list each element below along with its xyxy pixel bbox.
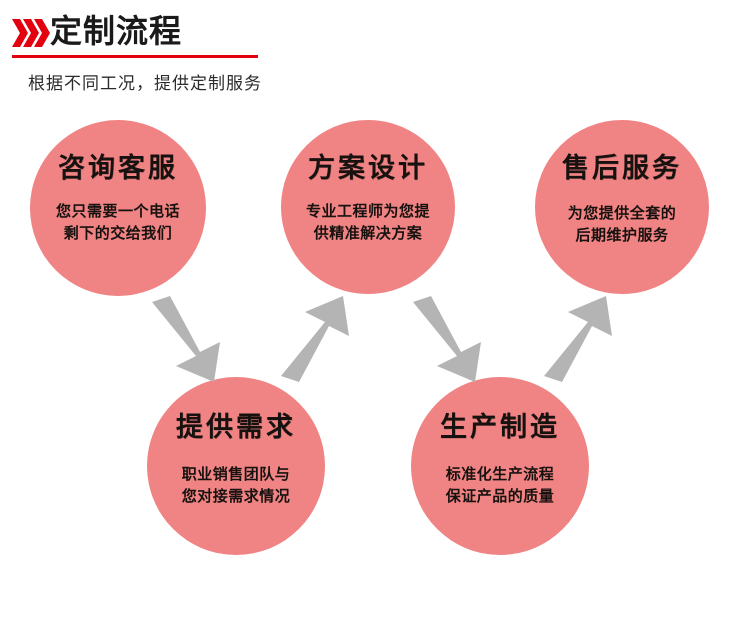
arrow-up-right-icon xyxy=(277,296,361,382)
page-subtitle: 根据不同工况，提供定制服务 xyxy=(28,72,262,96)
flow-step-description-line: 标准化生产流程 xyxy=(446,463,555,485)
flow-step-title: 生产制造 xyxy=(440,413,560,443)
arrow-up-right-icon xyxy=(540,296,624,382)
flow-step-plan-design[interactable]: 方案设计 专业工程师为您提 供精准解决方案 xyxy=(281,120,455,294)
flow-step-description-line: 专业工程师为您提 xyxy=(306,200,430,222)
flow-step-description-line: 您只需要一个电话 xyxy=(56,200,180,222)
page-title: 定制流程 xyxy=(50,10,182,52)
arrow-down-right-icon xyxy=(409,296,493,382)
triple-chevron-right-icon xyxy=(11,17,51,49)
flow-step-consult-service[interactable]: 咨询客服 您只需要一个电话 剩下的交给我们 xyxy=(30,120,206,296)
flow-step-title: 售后服务 xyxy=(562,154,682,184)
flow-step-description-line: 剩下的交给我们 xyxy=(56,222,180,244)
flow-step-description-line: 保证产品的质量 xyxy=(446,485,555,507)
flow-step-description-line: 供精准解决方案 xyxy=(306,222,430,244)
flow-step-after-sales-service[interactable]: 售后服务 为您提供全套的 后期维护服务 xyxy=(535,120,709,294)
flow-step-description: 职业销售团队与 您对接需求情况 xyxy=(182,463,291,507)
arrow-down-right-icon xyxy=(148,296,232,382)
flow-step-title: 提供需求 xyxy=(176,413,296,443)
flow-step-provide-requirements[interactable]: 提供需求 职业销售团队与 您对接需求情况 xyxy=(147,377,325,555)
section-header: 定制流程 根据不同工况，提供定制服务 xyxy=(0,0,750,110)
flow-step-description: 专业工程师为您提 供精准解决方案 xyxy=(306,200,430,244)
title-underline-divider xyxy=(12,55,258,58)
flow-step-title: 方案设计 xyxy=(308,154,428,184)
flow-step-title: 咨询客服 xyxy=(58,154,178,184)
flow-step-description-line: 您对接需求情况 xyxy=(182,485,291,507)
flow-step-description: 为您提供全套的 后期维护服务 xyxy=(568,202,677,246)
flow-step-description: 您只需要一个电话 剩下的交给我们 xyxy=(56,200,180,244)
flow-step-description-line: 职业销售团队与 xyxy=(182,463,291,485)
customization-process-infographic: 定制流程 根据不同工况，提供定制服务 咨询客服 您只需要一个电话 剩下的交给我们… xyxy=(0,0,750,623)
flow-step-production-manufacturing[interactable]: 生产制造 标准化生产流程 保证产品的质量 xyxy=(411,377,589,555)
flow-step-description: 标准化生产流程 保证产品的质量 xyxy=(446,463,555,507)
flow-step-description-line: 为您提供全套的 xyxy=(568,202,677,224)
flow-step-description-line: 后期维护服务 xyxy=(568,224,677,246)
